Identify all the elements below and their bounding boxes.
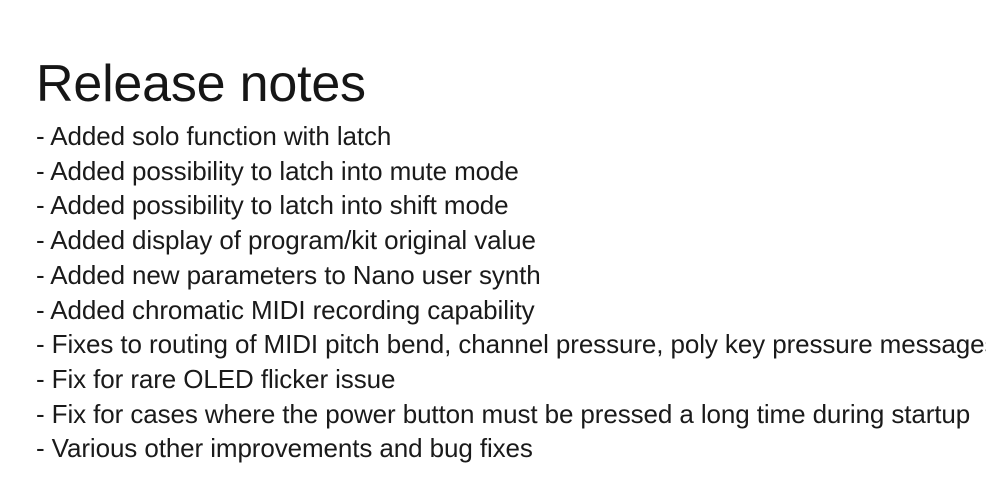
release-notes-slide: Release notes - Added solo function with… (0, 0, 986, 500)
list-item: - Added new parameters to Nano user synt… (36, 258, 966, 293)
list-item: - Added solo function with latch (36, 119, 966, 154)
list-item: - Fix for rare OLED flicker issue (36, 362, 966, 397)
list-item: - Added possibility to latch into mute m… (36, 154, 966, 189)
release-notes-list: - Added solo function with latch - Added… (36, 119, 966, 466)
list-item: - Added possibility to latch into shift … (36, 188, 966, 223)
list-item: - Added chromatic MIDI recording capabil… (36, 293, 966, 328)
page-title: Release notes (36, 53, 366, 115)
list-item: - Fix for cases where the power button m… (36, 397, 966, 432)
list-item: - Added display of program/kit original … (36, 223, 966, 258)
list-item: - Various other improvements and bug fix… (36, 431, 966, 466)
list-item: - Fixes to routing of MIDI pitch bend, c… (36, 327, 966, 362)
